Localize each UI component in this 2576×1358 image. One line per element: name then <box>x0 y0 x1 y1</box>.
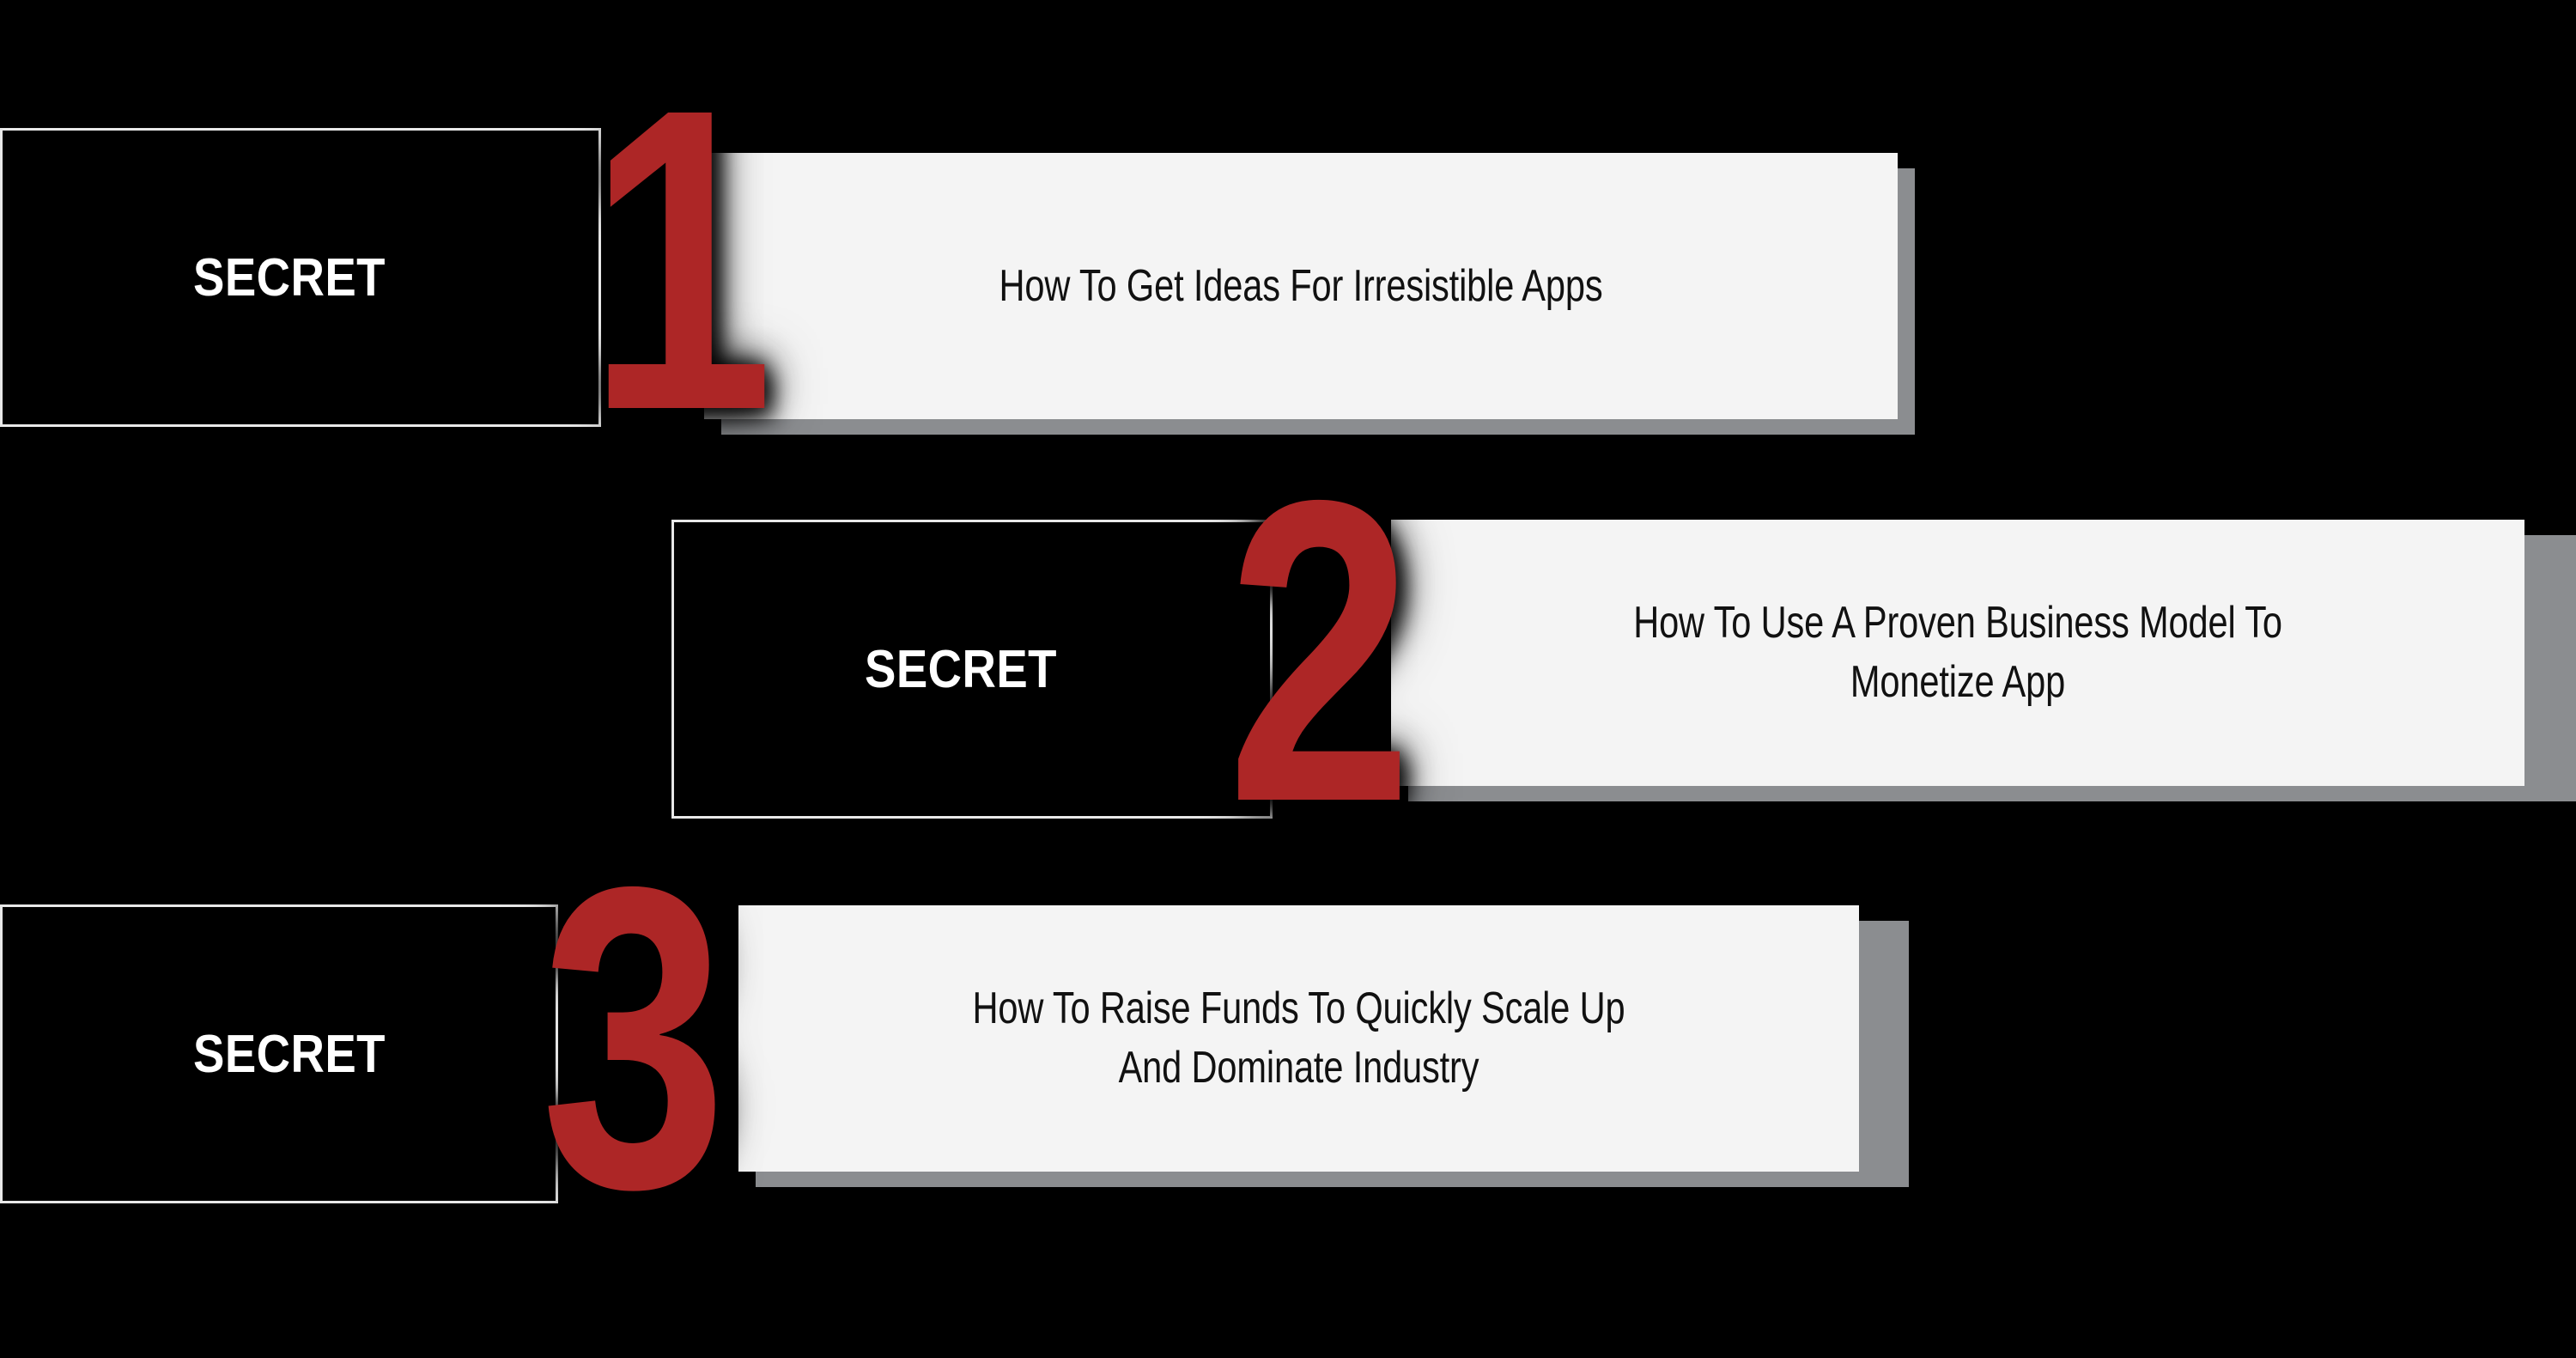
description-text-2: How To Use A Proven Business Model To Mo… <box>1504 594 2411 711</box>
secret-label-2: SECRET <box>865 639 1057 700</box>
step-number-3: 3 <box>541 823 722 1252</box>
step-number-1: 1 <box>587 45 735 474</box>
step-number-2: 2 <box>1227 436 1401 866</box>
description-text-3: How To Raise Funds To Quickly Scale Up A… <box>851 979 1747 1097</box>
secret-plate-2: SECRET <box>671 520 1273 819</box>
description-panel-3: How To Raise Funds To Quickly Scale Up A… <box>738 905 1859 1172</box>
description-panel-1: How To Get Ideas For Irresistible Apps <box>704 153 1898 419</box>
secret-plate-1: SECRET <box>0 128 601 427</box>
description-text-1: How To Get Ideas For Irresistible Apps <box>823 257 1778 316</box>
secret-plate-3: SECRET <box>0 904 558 1203</box>
infographic-canvas: How To Get Ideas For Irresistible Apps S… <box>0 0 2576 1358</box>
secret-label-1: SECRET <box>193 247 386 308</box>
description-panel-2: How To Use A Proven Business Model To Mo… <box>1391 520 2524 786</box>
secret-label-3: SECRET <box>193 1024 386 1085</box>
